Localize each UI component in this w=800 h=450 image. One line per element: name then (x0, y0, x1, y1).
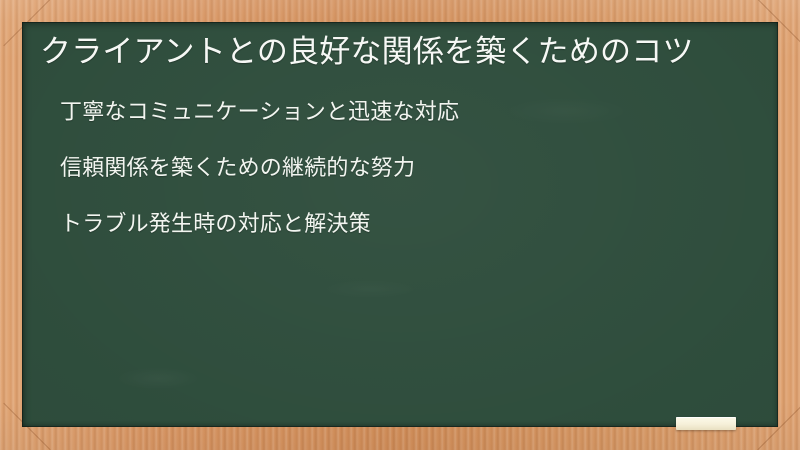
bullet-list: 丁寧なコミュニケーションと迅速な対応 信頼関係を築くための継続的な努力 トラブル… (36, 100, 764, 238)
list-item: 丁寧なコミュニケーションと迅速な対応 (60, 100, 764, 127)
slide-content: クライアントとの良好な関係を築くためのコツ 丁寧なコミュニケーションと迅速な対応… (36, 28, 764, 417)
chalkboard-surface: クライアントとの良好な関係を築くためのコツ 丁寧なコミュニケーションと迅速な対応… (22, 22, 778, 427)
list-item: トラブル発生時の対応と解決策 (60, 212, 764, 239)
list-item: 信頼関係を築くための継続的な努力 (60, 156, 764, 183)
slide-title: クライアントとの良好な関係を築くためのコツ (36, 28, 744, 73)
chalk-stick-icon (676, 417, 736, 430)
chalkboard-slide: クライアントとの良好な関係を築くためのコツ 丁寧なコミュニケーションと迅速な対応… (0, 0, 800, 450)
